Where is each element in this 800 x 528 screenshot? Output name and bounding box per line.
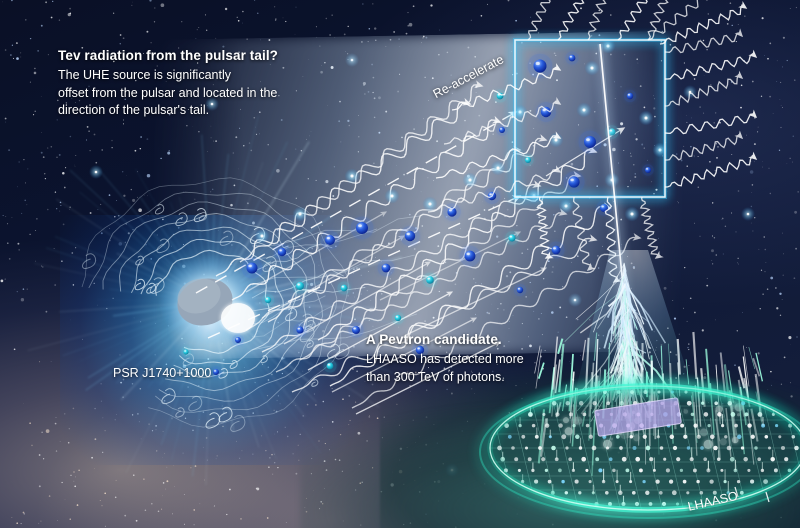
lhaaso-detector-array [480,380,800,518]
caption-pevatron-heading: A Pevtron candidate. [366,332,524,347]
caption-pevatron-line-1: LHAASO has detected more [366,351,524,369]
caption-pulsar-tail-line-2: offset from the pulsar and located in th… [58,85,278,103]
caption-pevatron: A Pevtron candidate. LHAASO has detected… [366,332,524,386]
caption-pevatron-line-2: than 300 TeV of photons. [366,369,524,387]
caption-pulsar-tail-line-1: The UHE source is significantly [58,67,278,85]
caption-pulsar-tail-line-3: direction of the pulsar's tail. [58,102,278,120]
caption-pulsar-tail-heading: Tev radiation from the pulsar tail? [58,48,278,63]
pulsar-designation-label: PSR J1740+1000 [113,366,211,380]
illustration-canvas: Tev radiation from the pulsar tail? The … [0,0,800,528]
caption-pulsar-tail: Tev radiation from the pulsar tail? The … [58,48,278,120]
